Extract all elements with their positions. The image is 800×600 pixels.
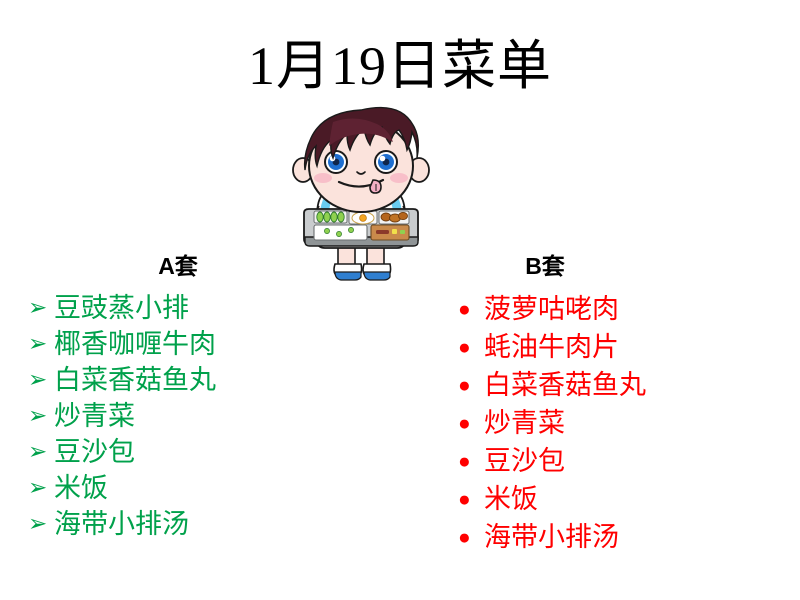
- list-item: ● 米饭: [458, 480, 780, 518]
- menu-item-label: 蚝油牛肉片: [484, 328, 619, 366]
- menu-item-label: 海带小排汤: [54, 506, 189, 542]
- list-item: ➢ 白菜香菇鱼丸: [28, 362, 358, 398]
- menu-item-label: 菠萝咕咾肉: [484, 290, 619, 328]
- green-arrow-bullet-icon: ➢: [28, 362, 54, 398]
- list-item: ➢ 豆沙包: [28, 434, 358, 470]
- menu-item-label: 米饭: [54, 470, 108, 506]
- list-item: ● 豆沙包: [458, 442, 780, 480]
- blush-right: [390, 173, 408, 183]
- list-item: ➢ 豆豉蒸小排: [28, 290, 358, 326]
- menu-item-label: 椰香咖喱牛肉: [54, 326, 216, 362]
- column-b-header: B套: [440, 252, 650, 280]
- list-item: ➢ 米饭: [28, 470, 358, 506]
- menu-item-label: 豆沙包: [484, 442, 565, 480]
- menu-item-label: 白菜香菇鱼丸: [484, 366, 646, 404]
- menu-item-label: 炒青菜: [484, 404, 565, 442]
- green-arrow-bullet-icon: ➢: [28, 326, 54, 362]
- menu-item-label: 豆豉蒸小排: [54, 290, 189, 326]
- blush-left: [314, 173, 332, 183]
- menu-item-label: 米饭: [484, 480, 538, 518]
- list-item: ● 菠萝咕咾肉: [458, 290, 780, 328]
- green-arrow-bullet-icon: ➢: [28, 470, 54, 506]
- list-item: ● 白菜香菇鱼丸: [458, 366, 780, 404]
- list-item: ➢ 椰香咖喱牛肉: [28, 326, 358, 362]
- green-arrow-bullet-icon: ➢: [28, 290, 54, 326]
- menu-list-a: ➢ 豆豉蒸小排 ➢ 椰香咖喱牛肉 ➢ 白菜香菇鱼丸 ➢ 炒青菜 ➢ 豆沙包 ➢ …: [28, 290, 358, 542]
- red-dot-bullet-icon: ●: [458, 404, 484, 442]
- green-arrow-bullet-icon: ➢: [28, 434, 54, 470]
- menu-item-label: 炒青菜: [54, 398, 135, 434]
- green-arrow-bullet-icon: ➢: [28, 506, 54, 542]
- red-dot-bullet-icon: ●: [458, 518, 484, 556]
- menu-column-b: B套 ● 菠萝咕咾肉 ● 蚝油牛肉片 ● 白菜香菇鱼丸 ● 炒青菜 ● 豆沙包: [440, 252, 780, 556]
- menu-item-label: 白菜香菇鱼丸: [54, 362, 216, 398]
- head-group: [305, 108, 419, 212]
- menu-item-label: 豆沙包: [54, 434, 135, 470]
- menu-item-label: 海带小排汤: [484, 518, 619, 556]
- list-item: ● 海带小排汤: [458, 518, 780, 556]
- page-title: 1月19日菜单: [0, 34, 800, 98]
- red-dot-bullet-icon: ●: [458, 290, 484, 328]
- menu-column-a: A套 ➢ 豆豉蒸小排 ➢ 椰香咖喱牛肉 ➢ 白菜香菇鱼丸 ➢ 炒青菜 ➢ 豆沙包: [28, 252, 358, 542]
- red-dot-bullet-icon: ●: [458, 366, 484, 404]
- green-arrow-bullet-icon: ➢: [28, 398, 54, 434]
- list-item: ➢ 炒青菜: [28, 398, 358, 434]
- red-dot-bullet-icon: ●: [458, 328, 484, 366]
- menu-slide: 1月19日菜单: [0, 0, 800, 600]
- list-item: ● 蚝油牛肉片: [458, 328, 780, 366]
- red-dot-bullet-icon: ●: [458, 442, 484, 480]
- food-tray: [304, 209, 418, 246]
- list-item: ➢ 海带小排汤: [28, 506, 358, 542]
- menu-list-b: ● 菠萝咕咾肉 ● 蚝油牛肉片 ● 白菜香菇鱼丸 ● 炒青菜 ● 豆沙包 ● 米…: [458, 290, 780, 556]
- column-a-header: A套: [28, 252, 328, 280]
- list-item: ● 炒青菜: [458, 404, 780, 442]
- red-dot-bullet-icon: ●: [458, 480, 484, 518]
